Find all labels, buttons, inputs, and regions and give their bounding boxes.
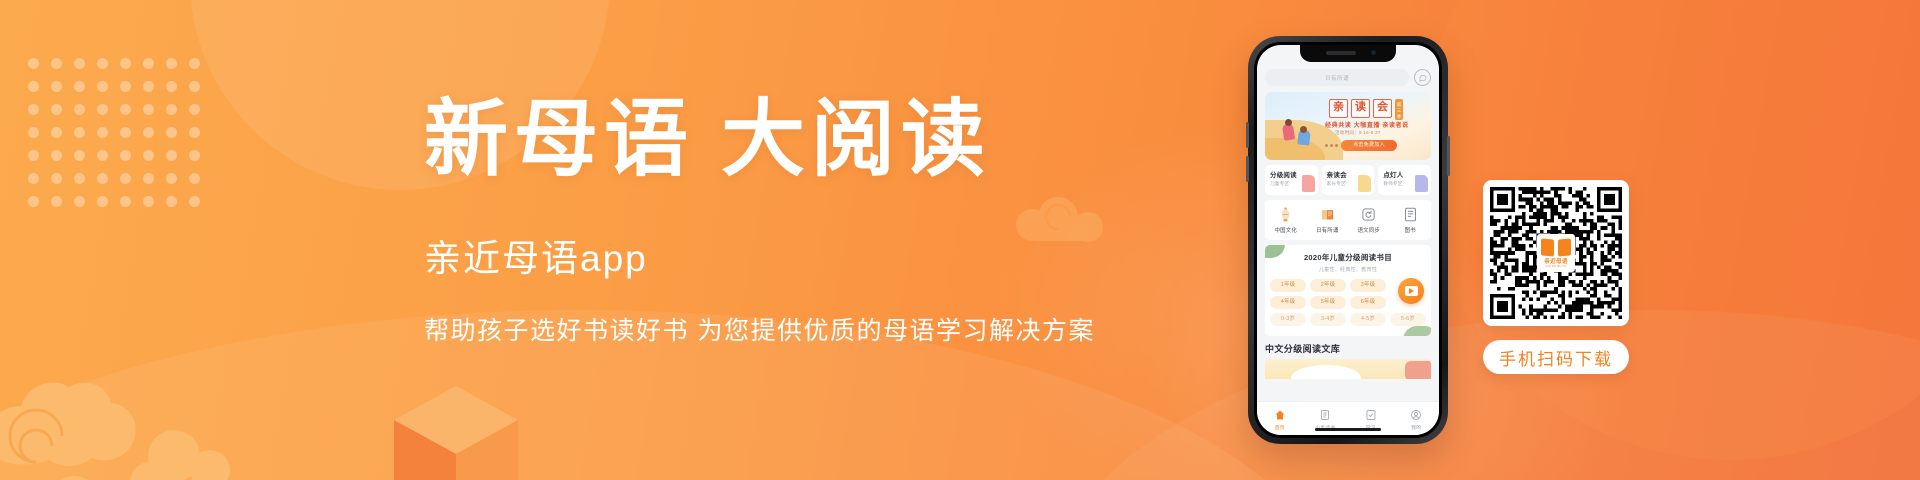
library-section-title: 中文分级阅读文库 (1265, 342, 1431, 355)
promo-banner: 新母语 大阅读 亲近母语app 帮助孩子选好书读好书 为您提供优质的母语学习解决… (0, 0, 1920, 480)
age-chip[interactable]: 0-3岁 (1270, 313, 1306, 326)
grid-dot (166, 104, 177, 115)
grid-dot (120, 150, 131, 161)
book-open-icon (1307, 206, 1349, 223)
grid-dot (189, 104, 200, 115)
grid-dot (51, 81, 62, 92)
age-chip[interactable]: 4-5岁 (1350, 313, 1386, 326)
grid-dot (120, 58, 131, 69)
grid-dot (74, 150, 85, 161)
hero-title-char: 会 (1373, 99, 1392, 118)
quick-link-daily-recite[interactable]: 日有所诵 (1307, 206, 1349, 234)
grid-dot (97, 196, 108, 207)
user-icon (1394, 408, 1440, 422)
grid-dot (189, 173, 200, 184)
grid-dot (120, 81, 131, 92)
hero-child-head-1 (1285, 119, 1292, 126)
hero-date: 活动时间：9.16-9.27 (1335, 130, 1381, 136)
grid-dot (74, 81, 85, 92)
sync-icon (1348, 206, 1390, 223)
grid-dot (189, 150, 200, 161)
booklist-card[interactable]: 2020年儿童分级阅读书目 儿童性、经典性、教育性 1年级 2年级 (1265, 245, 1431, 336)
lantern-icon (1265, 206, 1307, 223)
hero-season-badge: 第三季 (1395, 99, 1403, 120)
qr-code[interactable]: 亲近母语 QIN JIN MU YU (1483, 180, 1629, 326)
app-search-row: 日有所诵 (1265, 69, 1431, 86)
grid-dot (51, 173, 62, 184)
hero-subtitle: 经典共读 大咖直播 亲读者说 (1325, 120, 1409, 129)
play-screen-icon (1405, 286, 1418, 296)
grid-dot (120, 127, 131, 138)
carousel-dot[interactable] (1335, 144, 1338, 147)
grade-chip[interactable]: 4年级 (1270, 296, 1306, 309)
grid-dot (166, 58, 177, 69)
grid-dot (166, 81, 177, 92)
download-button[interactable]: 手机扫码下载 (1483, 340, 1629, 374)
grid-dot (120, 196, 131, 207)
banner-copy: 新母语 大阅读 亲近母语app 帮助孩子选好书读好书 为您提供优质的母语学习解决… (424, 96, 1204, 348)
qr-download-block: 亲近母语 QIN JIN MU YU 手机扫码下载 (1483, 180, 1629, 374)
grid-dot (97, 150, 108, 161)
message-icon[interactable] (1414, 69, 1431, 86)
books-icon (1390, 206, 1432, 223)
quick-link-textbook-sync[interactable]: 语文同步 (1348, 206, 1390, 234)
grid-dot (51, 104, 62, 115)
app-name: 亲近母语app (424, 237, 1204, 281)
grid-dot (166, 127, 177, 138)
phone-bezel: 日有所诵 (1254, 42, 1442, 438)
grid-dot (28, 81, 39, 92)
grid-dot (74, 196, 85, 207)
age-row: 0-3岁 3-4岁 4-5岁 5-6岁 (1270, 313, 1426, 326)
grid-dot (189, 127, 200, 138)
library-card-arc (1291, 365, 1361, 379)
page-title: 新母语 大阅读 (424, 96, 1204, 185)
grid-dot (97, 127, 108, 138)
grid-dot (28, 104, 39, 115)
book-shape-icon (1415, 175, 1428, 192)
grid-dot (74, 173, 85, 184)
banner-tagline: 帮助孩子选好书读好书 为您提供优质的母语学习解决方案 (424, 315, 1204, 348)
hero-child-head-2 (1300, 126, 1307, 133)
age-chip[interactable]: 3-4岁 (1310, 313, 1346, 326)
grade-chip-group: 1年级 2年级 3年级 4年级 5年级 6年级 (1270, 279, 1426, 326)
grid-dot (166, 150, 177, 161)
grid-dot (166, 196, 177, 207)
cube-3d-icon (386, 376, 526, 480)
library-card-accent (1405, 361, 1431, 379)
grid-dot (143, 196, 154, 207)
search-placeholder: 日有所诵 (1325, 74, 1349, 82)
grade-chip[interactable]: 1年级 (1270, 279, 1306, 292)
hero-banner[interactable]: 亲 读 会 第三季 经典共读 大咖直播 亲读者说 活动时间：9.16-9.27 … (1265, 92, 1431, 160)
grid-dot (28, 173, 39, 184)
grid-dot (97, 58, 108, 69)
carousel-dot[interactable] (1325, 144, 1328, 147)
chinese-cloud-icon (0, 330, 278, 480)
grid-dot (97, 81, 108, 92)
grid-dot (143, 58, 154, 69)
logo-name: 亲近母语 (1544, 257, 1568, 265)
quick-link-books[interactable]: 图书 (1390, 206, 1432, 234)
play-video-button[interactable] (1398, 278, 1424, 304)
front-camera-icon (1371, 50, 1376, 55)
grid-dot (51, 150, 62, 161)
grid-dot (143, 127, 154, 138)
age-chip[interactable]: 5-6岁 (1390, 313, 1426, 326)
grid-dot (51, 196, 62, 207)
book-logo-icon (1541, 239, 1571, 256)
grid-dot (97, 173, 108, 184)
hero-title-char: 读 (1351, 99, 1370, 118)
grade-chip[interactable]: 3年级 (1350, 279, 1386, 292)
play-triangle-icon (1409, 288, 1414, 294)
phone-volume-up-button (1246, 122, 1249, 148)
grid-dot (28, 127, 39, 138)
grid-dot (189, 196, 200, 207)
quick-link-chinese-culture[interactable]: 中国文化 (1265, 206, 1307, 234)
grade-chip[interactable]: 5年级 (1310, 296, 1346, 309)
quick-link-label: 日有所诵 (1307, 226, 1349, 234)
hero-join-button[interactable]: 点击免费加入 (1341, 140, 1397, 151)
grade-chip[interactable]: 2年级 (1310, 279, 1346, 292)
grid-dot (166, 173, 177, 184)
grid-dot (28, 58, 39, 69)
booklist-subtitle: 儿童性、经典性、教育性 (1270, 266, 1426, 273)
grid-dot (51, 58, 62, 69)
booklist-title: 2020年儿童分级阅读书目 (1270, 252, 1426, 263)
list-icon (1303, 408, 1349, 422)
category-cards: 分级阅读 儿童专区 亲读会 家长专区 点灯人 教师专区 (1265, 165, 1431, 195)
hero-title-char: 亲 (1329, 99, 1348, 118)
quick-links-row: 中国文化 日有所诵 (1265, 200, 1431, 240)
home-indicator (1315, 428, 1381, 431)
book-shape-icon (1302, 175, 1315, 192)
grid-dot (189, 81, 200, 92)
speaker-grille-icon (1326, 51, 1356, 55)
grid-dot (143, 81, 154, 92)
category-card-reading-club[interactable]: 亲读会 家长专区 (1322, 165, 1375, 195)
phone-power-button (1447, 136, 1450, 176)
grid-dot (143, 150, 154, 161)
grid-dot (143, 173, 154, 184)
book-shape-icon (1358, 175, 1371, 192)
hero-title: 亲 读 会 第三季 (1329, 99, 1403, 120)
book-right-page (1558, 238, 1571, 256)
phone-notch (1300, 45, 1396, 62)
qr-center-logo: 亲近母语 QIN JIN MU YU (1537, 234, 1575, 272)
grid-dot (74, 104, 85, 115)
phone-screen: 日有所诵 (1257, 45, 1439, 435)
grid-dot (51, 127, 62, 138)
grade-chip[interactable]: 6年级 (1350, 296, 1386, 309)
leaf-decoration-icon-2 (1403, 326, 1431, 336)
grid-dot (28, 196, 39, 207)
grid-dot (97, 104, 108, 115)
grid-dot (74, 58, 85, 69)
grid-dot (189, 58, 200, 69)
category-card-lamplighter[interactable]: 点灯人 教师专区 (1378, 165, 1431, 195)
tab-home[interactable]: 首页 (1257, 408, 1303, 431)
quick-link-label: 语文同步 (1348, 226, 1390, 234)
logo-name-en: QIN JIN MU YU (1546, 265, 1567, 268)
tab-profile[interactable]: 我的 (1394, 408, 1440, 431)
category-card-graded-reading[interactable]: 分级阅读 儿童专区 (1265, 165, 1318, 195)
download-button-label: 手机扫码下载 (1499, 345, 1613, 370)
tab-label: 首页 (1257, 424, 1303, 431)
library-card[interactable] (1265, 359, 1431, 379)
carousel-dots[interactable] (1325, 144, 1338, 147)
quick-link-label: 中国文化 (1265, 226, 1307, 234)
grid-dot (74, 127, 85, 138)
check-icon (1348, 408, 1394, 422)
tab-label: 我的 (1394, 424, 1440, 431)
grid-dot (28, 150, 39, 161)
grid-dot (120, 173, 131, 184)
phone-mockup: 日有所诵 (1248, 36, 1448, 444)
quick-link-label: 图书 (1390, 226, 1432, 234)
grid-dot (143, 104, 154, 115)
grid-dot (120, 104, 131, 115)
carousel-dot[interactable] (1330, 144, 1333, 147)
home-icon (1257, 408, 1303, 422)
phone-volume-down-button (1246, 156, 1249, 182)
book-left-page (1541, 238, 1554, 256)
search-input[interactable]: 日有所诵 (1265, 69, 1409, 86)
